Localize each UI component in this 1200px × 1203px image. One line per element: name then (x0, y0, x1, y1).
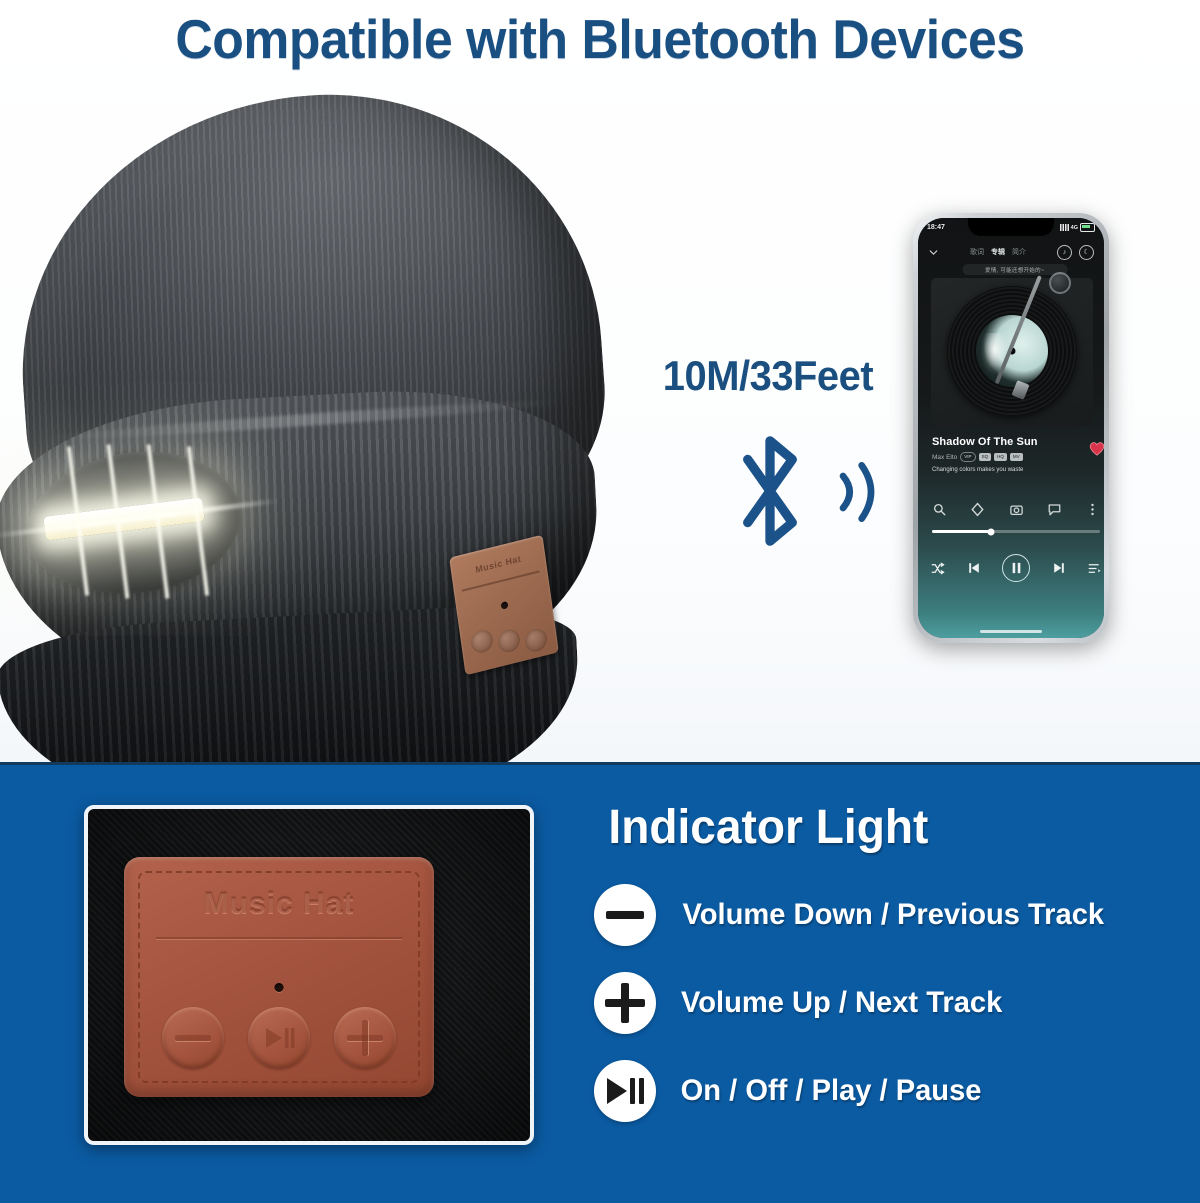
beanie-tag-minus-button (470, 628, 494, 655)
network-label: 4G (1071, 225, 1078, 231)
track-info: Shadow Of The Sun Max Elto VIP SQ HQ MV … (932, 436, 1102, 473)
beanie-tag-play-button (497, 627, 521, 654)
indicator-row-label: On / Off / Play / Pause (681, 1074, 982, 1108)
pause-glyph (1011, 562, 1022, 574)
tab-album[interactable]: 专辑 (991, 247, 1005, 257)
indicator-light-title: Indicator Light (608, 800, 1107, 855)
tab-lyrics[interactable]: 歌词 (970, 247, 984, 257)
indicator-row-volume-up: Volume Up / Next Track (594, 972, 1007, 1034)
player-controls (930, 548, 1102, 588)
minus-glyph (175, 1035, 211, 1041)
indicator-row-label: Volume Up / Next Track (681, 986, 1002, 1020)
heart-icon[interactable] (1088, 440, 1104, 457)
phone-notch (968, 218, 1054, 236)
minus-icon[interactable] (594, 884, 656, 946)
indicator-row-volume-down: Volume Down / Previous Track (594, 884, 1111, 946)
bluetooth-signal-arcs-icon (824, 452, 894, 532)
play-glyph (607, 1078, 627, 1104)
album-art-area (931, 278, 1093, 426)
leather-patch: Music Hat (124, 857, 434, 1097)
vinyl-record (947, 286, 1077, 416)
indicator-led-hole (275, 983, 284, 992)
plus-glyph-vertical (362, 1020, 368, 1056)
tonearm-pivot (1049, 272, 1071, 294)
phone-body: 18:47 4G 歌词 专辑 简介 (918, 218, 1104, 638)
patch-minus-button[interactable] (162, 1007, 224, 1069)
comment-icon[interactable] (1047, 502, 1062, 517)
previous-icon[interactable] (966, 560, 982, 576)
beanie-hat-photo: Music Hat (0, 96, 640, 736)
player-tabs[interactable]: 歌词 专辑 简介 (970, 247, 1026, 257)
indicator-row-label: Volume Down / Previous Track (683, 898, 1105, 932)
playback-progress-bar[interactable] (932, 530, 1100, 533)
play-pause-icon[interactable] (594, 1060, 656, 1122)
beanie-tag-led-hole (501, 601, 509, 610)
status-right-cluster: 4G (1060, 223, 1095, 232)
badge-sq: SQ (979, 453, 992, 461)
patch-brand-text: Music Hat (124, 887, 434, 921)
track-lyric-line: Changing colors makes you waste (932, 467, 1102, 473)
beanie-leather-tag: Music Hat (449, 535, 559, 676)
pause-glyph (630, 1078, 644, 1104)
progress-knob[interactable] (987, 528, 994, 535)
indicator-row-play-pause: On / Off / Play / Pause (594, 1060, 986, 1122)
range-label: 10M/33Feet (626, 352, 911, 400)
player-top-bar: 歌词 专辑 简介 ♪ ☾ (918, 240, 1104, 264)
leather-patch-photo: Music Hat (84, 805, 534, 1145)
sleep-timer-icon[interactable]: ☾ (1079, 245, 1094, 260)
track-artist[interactable]: Max Elto (932, 454, 957, 461)
player-tool-row (932, 502, 1100, 517)
badge-mv: MV (1010, 453, 1023, 461)
patch-plus-button[interactable] (334, 1007, 396, 1069)
patch-play-pause-button[interactable] (248, 1007, 310, 1069)
tab-intro[interactable]: 简介 (1012, 247, 1026, 257)
battery-icon (1080, 223, 1095, 232)
beanie-tag-plus-button (524, 627, 548, 654)
quality-icon[interactable] (970, 502, 985, 517)
player-top-icons: ♪ ☾ (1057, 245, 1094, 260)
play-pause-glyph (262, 1025, 296, 1051)
next-icon[interactable] (1051, 560, 1067, 576)
pause-icon[interactable] (1002, 554, 1030, 582)
plus-icon[interactable] (594, 972, 656, 1034)
badge-hq: HQ (994, 453, 1007, 461)
playlist-icon[interactable] (1087, 561, 1102, 576)
status-time: 18:47 (927, 224, 945, 231)
top-section: Compatible with Bluetooth Devices Music … (0, 0, 1200, 762)
bluetooth-icon (710, 426, 830, 556)
more-icon[interactable] (1085, 502, 1100, 517)
lyric-chip[interactable]: 爱情, 可能还想开始的~ (962, 264, 1067, 275)
sound-effects-icon[interactable]: ♪ (1057, 245, 1072, 260)
progress-fill (932, 530, 991, 533)
patch-divider-line (156, 937, 402, 939)
smartphone-mockup: 18:47 4G 歌词 专辑 简介 (913, 213, 1109, 643)
badge-vip: VIP (960, 452, 975, 462)
track-meta: Max Elto VIP SQ HQ MV (932, 452, 1102, 462)
camera-icon[interactable] (1009, 502, 1024, 517)
chevron-down-icon[interactable] (928, 247, 939, 258)
plus-glyph-vertical (621, 983, 629, 1023)
home-indicator (980, 630, 1042, 633)
shuffle-icon[interactable] (930, 561, 945, 576)
bluetooth-range-block: 10M/33Feet (618, 352, 918, 572)
search-icon[interactable] (932, 502, 947, 517)
product-infographic: Compatible with Bluetooth Devices Music … (0, 0, 1200, 1200)
minus-glyph (606, 911, 644, 919)
signal-bars-icon (1060, 224, 1069, 231)
page-title: Compatible with Bluetooth Devices (36, 8, 1164, 70)
track-title: Shadow Of The Sun (932, 436, 1102, 448)
